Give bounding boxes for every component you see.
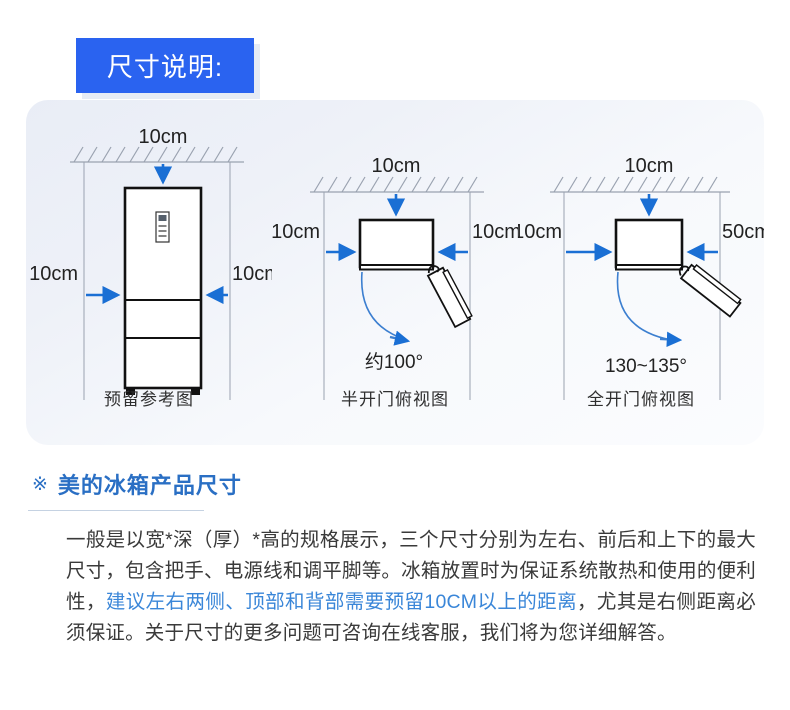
refrigerator-top-body — [616, 220, 682, 270]
info-heading-divider — [28, 510, 204, 511]
diagram-panel-half-open: 10cm 10cm 10cm 约100° 半开门俯视图 — [272, 100, 518, 445]
panel-caption-full-open: 全开门俯视图 — [518, 385, 764, 410]
door-swing-arc — [362, 272, 407, 340]
clearance-diagram-card: 10cm 10cm 10cm 预留参考图 — [26, 100, 764, 445]
info-paragraph-highlight: 建议左右两侧、顶部和背部需要预留10CM以上的距离 — [106, 591, 577, 613]
product-size-info-section: ※ 美的冰箱产品尺寸 一般是以宽*深（厚）*高的规格展示，三个尺寸分别为左右、前… — [28, 468, 764, 669]
label-door-angle: 130~135° — [605, 356, 687, 377]
label-left-clearance: 10cm — [272, 221, 320, 243]
label-right-clearance: 10cm — [472, 221, 518, 243]
label-left-clearance: 10cm — [29, 263, 78, 285]
ceiling-wall-line — [310, 177, 484, 192]
panel-caption-half-open: 半开门俯视图 — [272, 385, 518, 410]
open-door — [676, 259, 742, 317]
asterisk-mark-icon: ※ — [32, 473, 49, 496]
label-left-clearance: 10cm — [518, 221, 562, 243]
door-swing-arc — [618, 272, 679, 341]
diagram-panel-front-clearance: 10cm 10cm 10cm 预留参考图 — [26, 100, 272, 445]
label-top-clearance: 10cm — [139, 126, 188, 148]
info-heading: ※ 美的冰箱产品尺寸 — [28, 468, 764, 500]
info-paragraph: 一般是以宽*深（厚）*高的规格展示，三个尺寸分别为左右、前后和上下的最大尺寸，包… — [28, 525, 764, 649]
label-right-clearance: 50cm — [722, 221, 764, 243]
title-badge-label: 尺寸说明: — [76, 38, 254, 93]
ceiling-wall-line — [550, 177, 730, 192]
refrigerator-top-body — [360, 220, 433, 270]
size-description-title: 尺寸说明: — [76, 38, 254, 93]
panel-caption-front-clearance: 预留参考图 — [26, 385, 272, 410]
door-swing-arrow — [660, 339, 680, 340]
control-panel-icon — [156, 212, 169, 242]
label-right-clearance: 10cm — [232, 263, 272, 285]
diagram-panel-list: 10cm 10cm 10cm 预留参考图 — [26, 100, 764, 445]
ceiling-wall-line — [70, 147, 244, 162]
info-heading-text: 美的冰箱产品尺寸 — [58, 468, 242, 500]
label-door-angle: 约100° — [365, 351, 423, 373]
diagram-panel-full-open: 10cm 10cm 50cm 130~135° 全开门俯视图 — [518, 100, 764, 445]
label-top-clearance: 10cm — [372, 155, 421, 177]
open-door — [425, 261, 473, 327]
label-top-clearance: 10cm — [625, 155, 674, 177]
